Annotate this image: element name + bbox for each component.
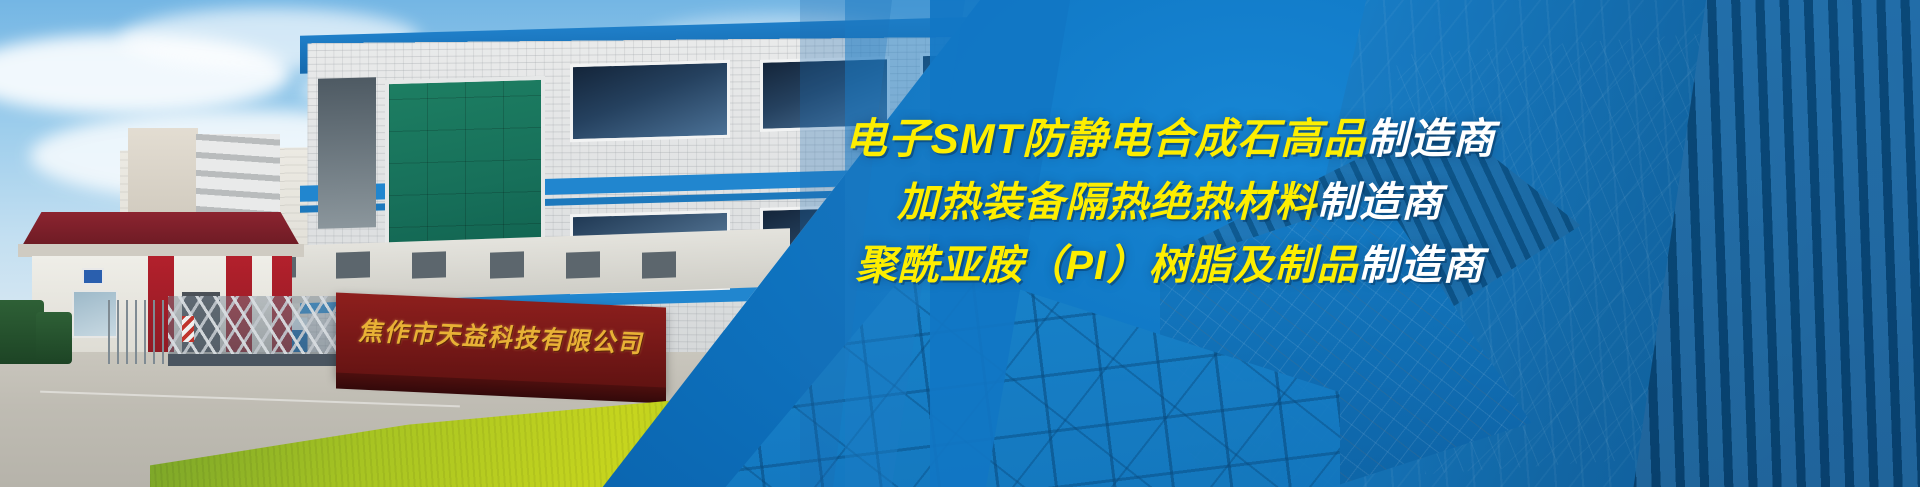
headline-block: 电子SMT防静电合成石高品制造商 加热装备隔热绝热材料制造商 聚酰亚胺（PI）树…: [640, 118, 1700, 286]
headline-line-2: 加热装备隔热绝热材料制造商: [640, 182, 1700, 223]
headline-line-2-suffix: 制造商: [1317, 179, 1443, 225]
headline-line-3-highlight: 聚酰亚胺（PI）树脂及制品: [856, 242, 1359, 288]
parapet-opening: [566, 251, 600, 278]
parapet-opening: [412, 251, 446, 278]
parapet-opening: [336, 251, 370, 278]
hero-banner: 焦作市天益科技有限公司 电子SMT防静电合成石高品制造商 加热装备隔热绝热材料制…: [0, 0, 1920, 487]
headline-line-3: 聚酰亚胺（PI）树脂及制品制造商: [640, 245, 1700, 286]
parapet-opening: [490, 251, 524, 278]
guard-house-roof: [22, 212, 300, 246]
metal-fence: [108, 300, 164, 364]
gate-hazard-marker: [182, 316, 194, 342]
stair-tower-fins: [196, 134, 280, 212]
facade-alcove: [318, 77, 376, 229]
headline-line-1-suffix: 制造商: [1366, 115, 1495, 162]
shrub: [36, 312, 72, 364]
headline-line-1: 电子SMT防静电合成石高品制造商: [640, 118, 1700, 160]
headline-line-2-highlight: 加热装备隔热绝热材料: [897, 179, 1317, 225]
guard-house-plaque: [82, 268, 104, 285]
headline-line-3-suffix: 制造商: [1358, 242, 1484, 288]
headline-line-1-highlight: 电子SMT防静电合成石高品: [845, 115, 1367, 162]
